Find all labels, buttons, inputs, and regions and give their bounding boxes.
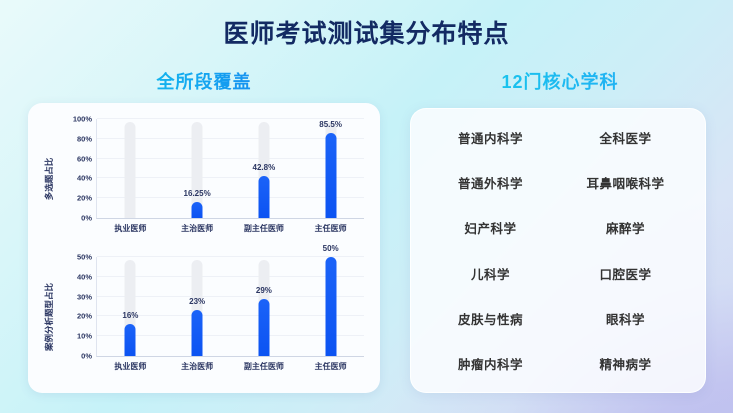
subject-item: 肿瘤内科学 (423, 354, 558, 373)
x-axis-tick-label: 主治医师 (181, 361, 213, 372)
charts-card: 多选题占比 0%20%40%60%80%100%执业医师16.25%主治医师42… (28, 103, 380, 393)
y-axis-tick-label: 30% (77, 292, 92, 301)
bar-group: 50%主任医师 (297, 257, 364, 356)
y-axis-tick-label: 50% (77, 253, 92, 262)
y-axis-tick-label: 100% (73, 115, 92, 124)
subject-item: 麻醉学 (558, 218, 693, 237)
bar-value-label: 42.8% (253, 163, 276, 172)
subject-row: 皮肤与性病 眼科学 (423, 296, 693, 341)
x-axis-tick-label: 执业医师 (114, 223, 146, 234)
bar-value-label: 29% (256, 286, 272, 295)
subject-item: 普通内科学 (423, 128, 558, 147)
bar-group: 85.5%主任医师 (297, 119, 364, 218)
subject-row: 普通内科学 全科医学 (423, 115, 693, 160)
x-axis-tick-label: 副主任医师 (244, 223, 284, 234)
y-axis-tick-label: 20% (77, 312, 92, 321)
subject-item: 皮肤与性病 (423, 309, 558, 328)
y-axis-tick-label: 0% (81, 214, 92, 223)
subject-item: 眼科学 (558, 309, 693, 328)
chart-0-plot: 0%20%40%60%80%100%执业医师16.25%主治医师42.8%副主任… (96, 119, 364, 219)
section-heading-subjects: 12门核心学科 (410, 68, 710, 94)
bar-value-label: 50% (323, 244, 339, 253)
bar-value-label: 23% (189, 297, 205, 306)
subject-item: 耳鼻咽喉科学 (558, 173, 693, 192)
x-axis-tick-label: 副主任医师 (244, 361, 284, 372)
bar-value-label: 85.5% (319, 120, 342, 129)
chart-0-yaxis-title: 多选题占比 (43, 113, 57, 245)
bar (258, 176, 269, 218)
chart-case-analysis: 案例分析题型占比 0%10%20%30%40%50%16%执业医师23%主治医师… (28, 251, 380, 383)
bar (258, 299, 269, 356)
subject-row: 妇产科学 麻醉学 (423, 205, 693, 250)
y-axis-tick-label: 0% (81, 352, 92, 361)
x-axis-tick-label: 执业医师 (114, 361, 146, 372)
subjects-card: 普通内科学 全科医学 普通外科学 耳鼻咽喉科学 妇产科学 麻醉学 儿科学 口腔医… (410, 108, 706, 393)
subject-row: 儿科学 口腔医学 (423, 251, 693, 296)
bar-group: 执业医师 (97, 119, 164, 218)
x-axis-tick-label: 主任医师 (315, 223, 347, 234)
bar (125, 324, 136, 356)
x-axis-tick-label: 主任医师 (315, 361, 347, 372)
bar-group: 42.8%副主任医师 (231, 119, 298, 218)
subject-item: 儿科学 (423, 264, 558, 283)
y-axis-tick-label: 80% (77, 134, 92, 143)
section-heading-coverage: 全所段覆盖 (28, 68, 380, 94)
bar-group: 16%执业医师 (97, 257, 164, 356)
bar (325, 257, 336, 356)
bar-value-label: 16% (122, 311, 138, 320)
bar (325, 133, 336, 218)
subject-item: 普通外科学 (423, 173, 558, 192)
subject-row: 肿瘤内科学 精神病学 (423, 341, 693, 386)
subject-item: 妇产科学 (423, 218, 558, 237)
subject-item: 口腔医学 (558, 264, 693, 283)
bar-group: 23%主治医师 (164, 257, 231, 356)
subject-item: 精神病学 (558, 354, 693, 373)
y-axis-tick-label: 60% (77, 154, 92, 163)
subject-row: 普通外科学 耳鼻咽喉科学 (423, 160, 693, 205)
bar-group: 16.25%主治医师 (164, 119, 231, 218)
y-axis-tick-label: 10% (77, 332, 92, 341)
bar-track (125, 122, 136, 218)
chart-1-yaxis-title: 案例分析题型占比 (43, 251, 57, 383)
y-axis-tick-label: 20% (77, 194, 92, 203)
bar (192, 202, 203, 218)
y-axis-tick-label: 40% (77, 272, 92, 281)
page-title: 医师考试测试集分布特点 (0, 14, 733, 50)
y-axis-tick-label: 40% (77, 174, 92, 183)
x-axis-tick-label: 主治医师 (181, 223, 213, 234)
subject-item: 全科医学 (558, 128, 693, 147)
bar-value-label: 16.25% (184, 189, 211, 198)
chart-1-plot: 0%10%20%30%40%50%16%执业医师23%主治医师29%副主任医师5… (96, 257, 364, 357)
chart-multiple-choice: 多选题占比 0%20%40%60%80%100%执业医师16.25%主治医师42… (28, 113, 380, 245)
bar-group: 29%副主任医师 (231, 257, 298, 356)
bar (192, 310, 203, 356)
